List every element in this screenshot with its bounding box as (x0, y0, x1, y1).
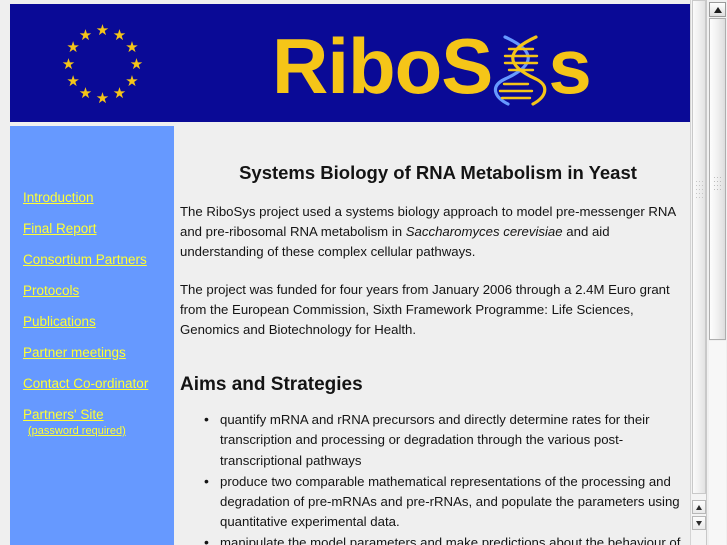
aims-heading: Aims and Strategies (178, 374, 698, 396)
outer-scrollbar-thumb[interactable] (709, 18, 726, 340)
european-union-flag-icon: ★★★★★★★★★★★★ (48, 20, 158, 110)
sidebar-item-contact-coordinator[interactable]: Contact Co-ordinator (23, 376, 148, 391)
eu-star-icon: ★ (66, 74, 81, 89)
sidebar-item-protocols-row: Protocols (23, 283, 148, 298)
sidebar-navigation: Introduction Final Report Consortium Par… (10, 126, 174, 545)
page-title: Systems Biology of RNA Metabolism in Yea… (178, 126, 698, 184)
sidebar-item-final-report[interactable]: Final Report (23, 221, 148, 236)
inner-scrollbar-grip (696, 181, 704, 201)
sidebar-item-partner-meetings[interactable]: Partner meetings (23, 345, 148, 360)
site-header-banner: ★★★★★★★★★★★★ RiboS (10, 4, 705, 122)
sidebar-item-introduction-row: Introduction (23, 190, 148, 205)
eu-star-icon: ★ (124, 40, 139, 55)
inner-scroll-up-arrow-icon[interactable] (692, 500, 706, 514)
dna-double-helix-icon (492, 31, 548, 109)
eu-star-icon: ★ (95, 91, 110, 106)
outer-scrollbar-grip (714, 177, 723, 195)
sidebar-item-consortium-partners[interactable]: Consortium Partners (23, 252, 148, 267)
sidebar-item-consortium-partners-row: Consortium Partners (23, 252, 148, 267)
eu-star-icon: ★ (95, 23, 110, 38)
list-item: produce two comparable mathematical repr… (208, 472, 696, 532)
funding-paragraph: The project was funded for four years fr… (180, 280, 696, 340)
eu-star-icon: ★ (129, 57, 144, 72)
outer-scrollbar-track[interactable] (709, 341, 726, 545)
sidebar-item-introduction[interactable]: Introduction (23, 190, 148, 205)
intro-paragraph: The RiboSys project used a systems biolo… (180, 202, 696, 262)
sidebar-item-protocols[interactable]: Protocols (23, 283, 148, 298)
site-logo: RiboS s (272, 18, 591, 114)
outer-vertical-scrollbar[interactable] (706, 0, 727, 545)
aims-list: quantify mRNA and rRNA precursors and di… (178, 410, 698, 545)
sidebar-item-partners-site[interactable]: Partners' Site (23, 407, 148, 422)
outer-scroll-up-arrow-icon[interactable] (709, 2, 726, 17)
list-item: quantify mRNA and rRNA precursors and di… (208, 410, 696, 470)
eu-star-icon: ★ (78, 28, 93, 43)
main-content: Systems Biology of RNA Metabolism in Yea… (178, 126, 698, 545)
sidebar-item-publications[interactable]: Publications (23, 314, 148, 329)
inner-scrollbar-thumb[interactable] (692, 0, 706, 494)
eu-star-icon: ★ (112, 86, 127, 101)
inner-vertical-scrollbar[interactable] (690, 0, 706, 545)
list-item: manipulate the model parameters and make… (208, 533, 696, 545)
sidebar-item-partner-meetings-row: Partner meetings (23, 345, 148, 360)
sidebar-item-contact-coordinator-row: Contact Co-ordinator (23, 376, 148, 391)
sidebar-item-publications-row: Publications (23, 314, 148, 329)
sidebar-item-final-report-row: Final Report (23, 221, 148, 236)
logo-text-part2: s (548, 18, 590, 114)
page-root: ★★★★★★★★★★★★ RiboS (0, 0, 727, 545)
sidebar-item-partners-site-row: Partners' Site (password required) (23, 407, 148, 437)
eu-star-icon: ★ (61, 57, 76, 72)
sidebar-link-list: Introduction Final Report Consortium Par… (23, 190, 148, 453)
sidebar-item-partners-site-note[interactable]: (password required) (28, 425, 148, 437)
inner-scroll-down-arrow-icon[interactable] (692, 516, 706, 530)
browser-viewport: ★★★★★★★★★★★★ RiboS (0, 0, 706, 545)
logo-text-part1: RiboS (272, 18, 492, 114)
species-name-italic: Saccharomyces cerevisiae (406, 224, 563, 239)
